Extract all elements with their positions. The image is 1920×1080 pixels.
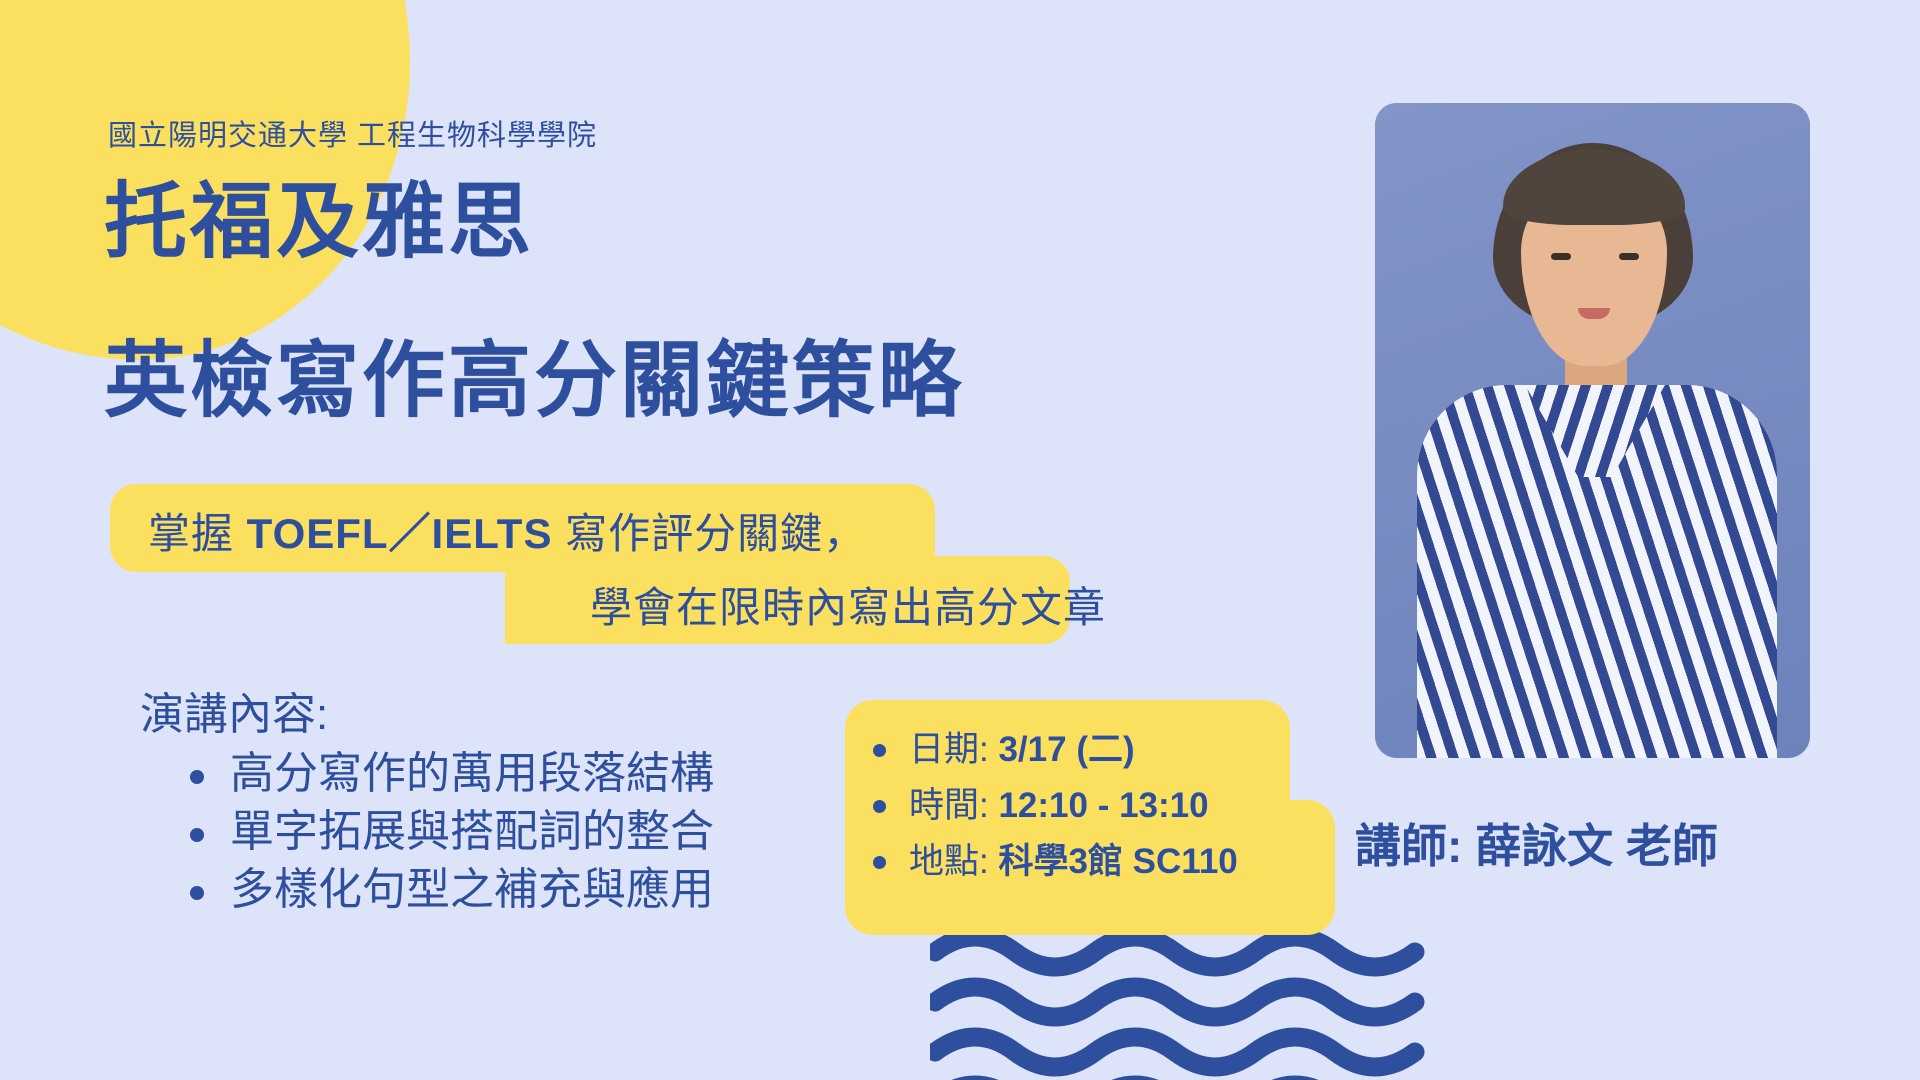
list-item: 地點: 科學3館 SC110 <box>867 834 1238 890</box>
list-item: 日期: 3/17 (二) <box>867 722 1238 778</box>
info-value: 科學3館 SC110 <box>998 842 1237 881</box>
subtitle-line1: 掌握 TOEFL／IELTS 寫作評分關鍵， <box>148 500 866 561</box>
info-value: 3/17 (二) <box>998 730 1134 769</box>
speaker-portrait-photo <box>1375 103 1810 758</box>
info-label: 日期: <box>909 730 989 769</box>
info-label: 時間: <box>909 786 989 825</box>
info-value: 12:10 - 13:10 <box>998 786 1208 825</box>
portrait-eye-left <box>1551 253 1571 260</box>
portrait-eye-right <box>1619 253 1639 260</box>
list-item: 單字拓展與搭配詞的整合 <box>180 803 714 861</box>
agenda-list: 高分寫作的萬用段落結構 單字拓展與搭配詞的整合 多樣化句型之補充與應用 <box>180 745 714 919</box>
info-label: 地點: <box>909 842 989 881</box>
subtitle-line1-prefix: 掌握 <box>148 510 247 557</box>
event-info-box: 日期: 3/17 (二) 時間: 12:10 - 13:10 地點: 科學3館 … <box>845 700 1345 935</box>
list-item: 時間: 12:10 - 13:10 <box>867 778 1238 834</box>
subtitle-banner: 掌握 TOEFL／IELTS 寫作評分關鍵， 學會在限時內寫出高分文章 <box>110 484 1070 644</box>
speaker-label: 講師: 薛詠文 老師 <box>1355 810 1718 876</box>
subtitle-line2: 學會在限時內寫出高分文章 <box>590 574 1106 635</box>
subtitle-line1-exams: TOEFL／IELTS <box>247 510 553 557</box>
page-title-line1: 托福及雅思 <box>104 178 534 265</box>
list-item: 多樣化句型之補充與應用 <box>180 861 714 919</box>
agenda-heading: 演講內容: <box>140 678 328 742</box>
institution-label: 國立陽明交通大學 工程生物科學學院 <box>108 112 597 154</box>
page-title-line2: 英檢寫作高分關鍵策略 <box>104 337 964 424</box>
blue-wave-decoration <box>930 930 1450 1080</box>
wave-icon <box>930 930 1450 1080</box>
list-item: 高分寫作的萬用段落結構 <box>180 745 714 803</box>
subtitle-line1-suffix: 寫作評分關鍵， <box>552 510 866 557</box>
info-list: 日期: 3/17 (二) 時間: 12:10 - 13:10 地點: 科學3館 … <box>845 700 1238 890</box>
